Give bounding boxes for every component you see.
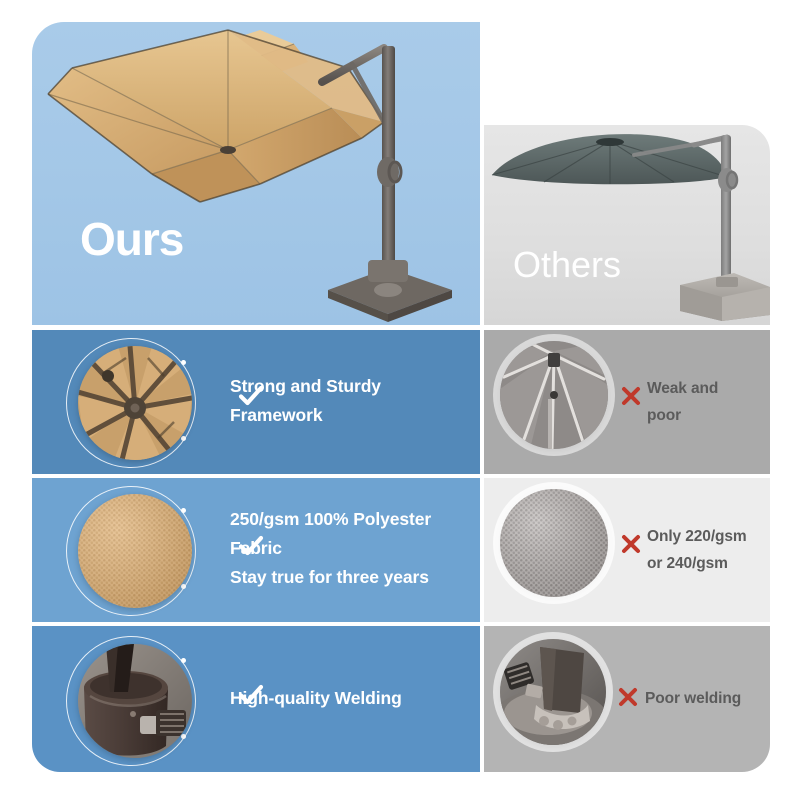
hero-panel-ours: Ours <box>32 22 480 325</box>
row-framework-ours: Strong and Sturdy Framework <box>32 330 480 474</box>
others-umbrella-image <box>484 125 770 325</box>
fabric-others-text: Only 220/gsm or 240/gsm <box>647 523 747 577</box>
ours-umbrella-image <box>32 22 480 325</box>
row-welding-ours: High-quality Welding <box>32 626 480 772</box>
comparison-infographic: Ours <box>0 0 800 800</box>
x-icon <box>621 534 641 554</box>
welding-others-text: Poor welding <box>645 685 741 712</box>
row-welding-others: Poor welding <box>484 626 770 772</box>
fabric-ours-image <box>78 494 192 608</box>
framework-others-text: Weak and poor <box>647 375 718 429</box>
row-framework-others: Weak and poor <box>484 330 770 474</box>
ours-label: Ours <box>80 216 183 262</box>
welding-others-image <box>500 639 606 745</box>
row-fabric-ours: 250/gsm 100% Polyester Fabric Stay true … <box>32 478 480 622</box>
welding-ours-image <box>78 644 192 758</box>
row-fabric-others: Only 220/gsm or 240/gsm <box>484 478 770 622</box>
welding-ours-text: High-quality Welding <box>230 684 402 713</box>
x-icon <box>618 687 638 707</box>
welding-ours-thumb-wrap <box>66 634 202 766</box>
framework-ours-thumb-wrap <box>66 336 202 468</box>
fabric-ours-thumb-wrap <box>66 484 202 616</box>
welding-others-thumb-wrap <box>497 636 613 752</box>
fabric-others-thumb-wrap <box>497 486 613 602</box>
framework-others-thumb-wrap <box>497 338 613 454</box>
framework-ours-image <box>78 346 192 460</box>
framework-ours-text: Strong and Sturdy Framework <box>230 372 381 430</box>
framework-others-image <box>500 341 608 449</box>
fabric-others-image <box>500 489 608 597</box>
fabric-ours-text: 250/gsm 100% Polyester Fabric Stay true … <box>230 505 431 592</box>
x-icon <box>621 386 641 406</box>
others-label: Others <box>513 247 621 283</box>
hero-panel-others: Others <box>484 125 770 325</box>
